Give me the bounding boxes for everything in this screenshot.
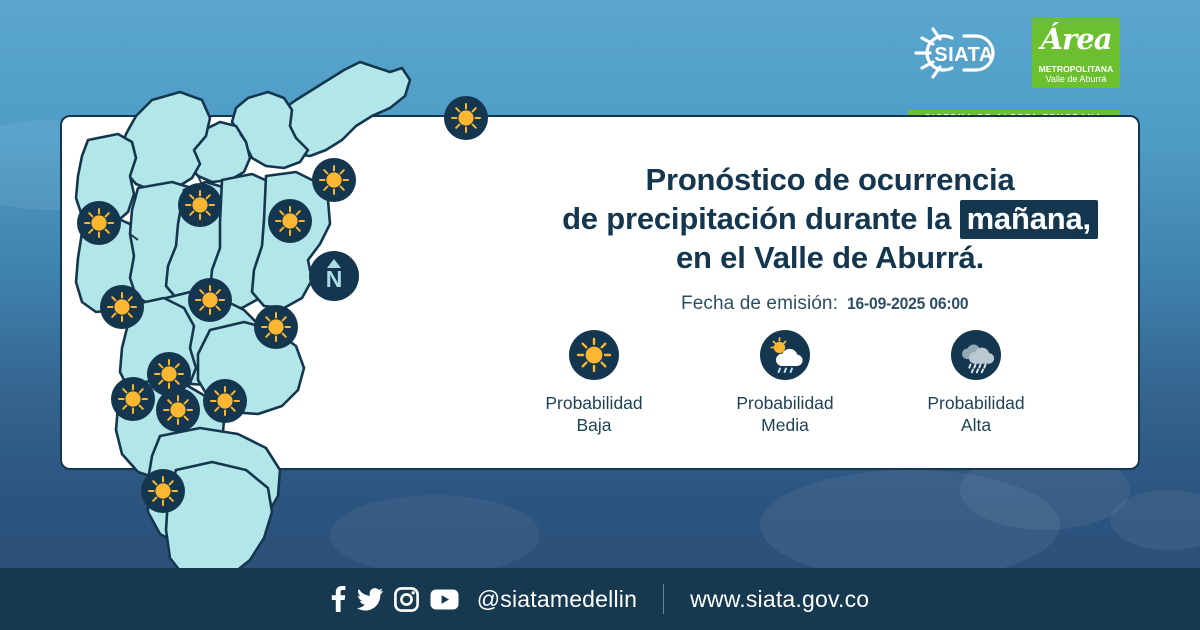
legend-media-line1: Probabilidad bbox=[736, 392, 833, 414]
map-marker-sun[interactable] bbox=[178, 183, 222, 227]
area-logo-line1: METROPOLITANA bbox=[1039, 64, 1114, 74]
map-marker-sun[interactable] bbox=[203, 379, 247, 423]
legend-label-media: Probabilidad Media bbox=[736, 392, 833, 437]
legend-item-alta: Probabilidad Alta bbox=[887, 330, 1065, 437]
map-marker-sun[interactable] bbox=[444, 96, 488, 140]
siata-logo: SIATA bbox=[898, 18, 1030, 88]
sun-cloud-rain-icon bbox=[760, 330, 810, 380]
map-marker-sun[interactable] bbox=[312, 158, 356, 202]
forecast-text-panel: Pronóstico de ocurrencia de precipitació… bbox=[520, 160, 1140, 315]
legend-alta-line1: Probabilidad bbox=[927, 392, 1024, 414]
map-marker-sun[interactable] bbox=[156, 388, 200, 432]
legend-label-baja: Probabilidad Baja bbox=[545, 392, 642, 437]
infographic-root: SIATA Área METROPOLITANA Valle de Aburrá… bbox=[0, 0, 1200, 630]
legend-item-baja: Probabilidad Baja bbox=[505, 330, 683, 437]
twitter-icon[interactable] bbox=[357, 588, 383, 611]
probability-legend: Probabilidad Baja bbox=[505, 330, 1065, 437]
youtube-icon[interactable] bbox=[430, 589, 459, 610]
rain-cloud-icon bbox=[951, 330, 1001, 380]
map-marker-sun[interactable] bbox=[254, 305, 298, 349]
title-line-1: Pronóstico de ocurrencia bbox=[520, 160, 1140, 199]
footer-bar: @siatamedellin www.siata.gov.co bbox=[0, 568, 1200, 630]
sun-icon bbox=[569, 330, 619, 380]
map-marker-sun[interactable] bbox=[100, 285, 144, 329]
compass-north-badge: N bbox=[309, 251, 359, 301]
compass-arrow-icon bbox=[327, 259, 341, 268]
footer-divider bbox=[663, 584, 664, 614]
area-metropolitana-logo: Área METROPOLITANA Valle de Aburrá bbox=[1032, 18, 1120, 88]
social-handle[interactable]: @siatamedellin bbox=[477, 586, 637, 613]
social-icons bbox=[331, 586, 459, 612]
issue-date-label: Fecha de emisión: bbox=[681, 293, 838, 315]
legend-label-alta: Probabilidad Alta bbox=[927, 392, 1024, 437]
map-marker-sun[interactable] bbox=[188, 278, 232, 322]
legend-baja-line1: Probabilidad bbox=[545, 392, 642, 414]
legend-baja-line2: Baja bbox=[545, 414, 642, 436]
facebook-icon[interactable] bbox=[331, 586, 346, 612]
legend-item-media: Probabilidad Media bbox=[696, 330, 874, 437]
title-highlight-period: mañana, bbox=[960, 200, 1098, 239]
svg-text:SIATA: SIATA bbox=[934, 44, 994, 66]
logo-group: SIATA Área METROPOLITANA Valle de Aburrá… bbox=[898, 18, 1120, 110]
valle-de-aburra-map: N bbox=[60, 30, 420, 575]
map-marker-sun[interactable] bbox=[268, 199, 312, 243]
instagram-icon[interactable] bbox=[394, 587, 419, 612]
title-line-3: en el Valle de Aburrá. bbox=[520, 238, 1140, 277]
map-marker-sun[interactable] bbox=[141, 469, 185, 513]
page-title: Pronóstico de ocurrencia de precipitació… bbox=[520, 160, 1140, 277]
map-marker-sun[interactable] bbox=[111, 377, 155, 421]
title-line-2: de precipitación durante la mañana, bbox=[520, 199, 1140, 238]
website-url[interactable]: www.siata.gov.co bbox=[690, 586, 869, 613]
issue-date-value: 16-09-2025 06:00 bbox=[847, 294, 968, 314]
legend-alta-line2: Alta bbox=[927, 414, 1024, 436]
area-logo-script: Área bbox=[1032, 22, 1120, 56]
area-logo-line2: Valle de Aburrá bbox=[1046, 74, 1107, 84]
title-line-2-text: de precipitación durante la bbox=[562, 201, 951, 236]
legend-media-line2: Media bbox=[736, 414, 833, 436]
issue-date-row: Fecha de emisión: 16-09-2025 06:00 bbox=[520, 293, 1140, 315]
compass-label: N bbox=[326, 268, 343, 291]
map-marker-sun[interactable] bbox=[77, 201, 121, 245]
